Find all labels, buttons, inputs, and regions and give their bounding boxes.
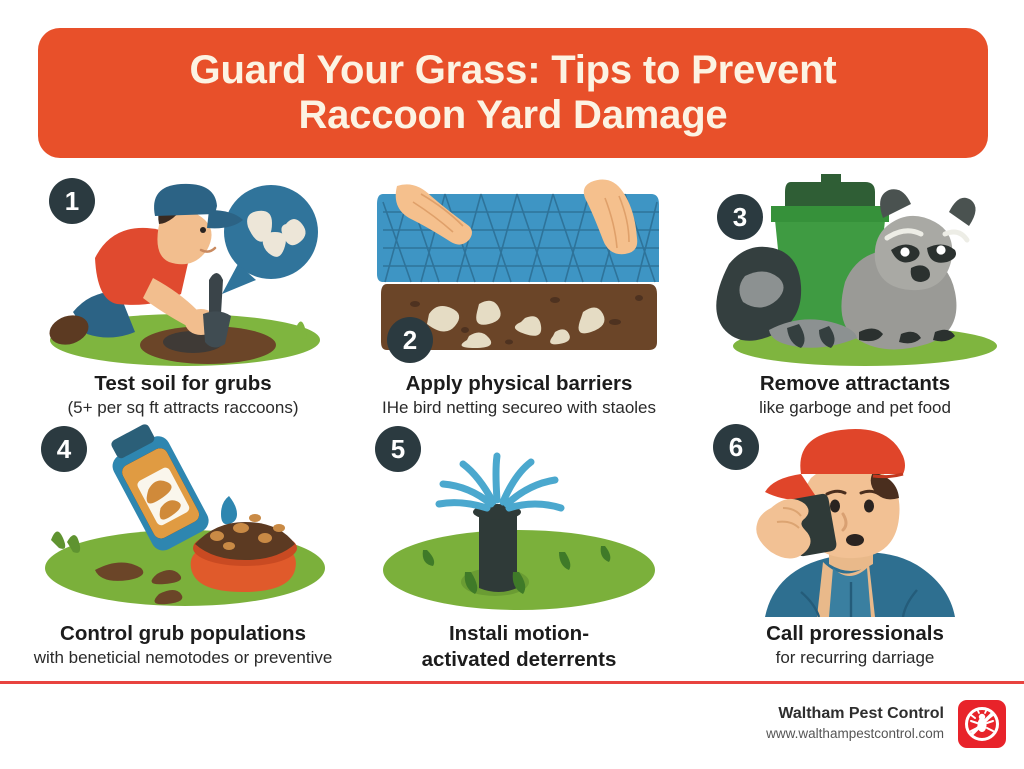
step-caption-6: Call proressionals for recurring darriag… [690,621,1020,668]
brand-name: Waltham Pest Control [766,704,944,725]
step-badge-2: 2 [387,317,433,363]
step-title-1: Test soil for grubs [18,371,348,396]
step-badge-4: 4 [41,426,87,472]
step-caption-1: Test soil for grubs (5+ per sq ft attrac… [18,371,348,418]
step-title-4: Control grub populations [18,621,348,646]
title-line-2: Raccoon Yard Damage [190,93,837,138]
step-card-2: 2 Apply physical barriers IHe bird netti… [354,172,684,418]
infographic-page: Guard Your Grass: Tips to Prevent Raccoo… [0,0,1024,769]
step-badge-5: 5 [375,426,421,472]
footer-text: Waltham Pest Control www.walthampestcont… [766,704,944,744]
step-subtitle-3: like garboge and pet food [690,397,1020,418]
step-title-5: Instali motion- [354,621,684,646]
no-pest-logo [958,700,1006,748]
man-phone-call-illustration: 6 [705,422,1005,617]
step-badge-1: 1 [49,178,95,224]
step-card-3: 3 Remove attractants like garboge and pe… [690,172,1020,418]
steps-grid: 1 Test soil for grubs (5+ per sq ft attr… [18,172,1006,672]
man-digging-soil-grubs-illustration: 1 [33,172,333,367]
step-card-1: 1 Test soil for grubs (5+ per sq ft attr… [18,172,348,418]
step-title-2: Apply physical barriers [354,371,684,396]
step-caption-5: Instali motion- activated deterrents [354,621,684,673]
footer: Waltham Pest Control www.walthampestcont… [766,700,1006,748]
step-card-5: 5 Instali motion- activated deterrents [354,422,684,673]
brand-website[interactable]: www.walthampestcontrol.com [766,725,944,744]
motion-sprinkler-illustration: 5 [369,422,669,617]
nematode-bottle-pet-bowl-illustration: 4 [33,422,333,617]
step-title-3: Remove attractants [690,371,1020,396]
step-subtitle-2: IHe bird netting secureo with staoles [354,397,684,418]
footer-divider [0,681,1024,684]
step-title-6: Call proressionals [690,621,1020,646]
raccoon-trash-bin-illustration: 3 [705,172,1005,367]
page-title: Guard Your Grass: Tips to Prevent Raccoo… [164,48,863,138]
title-line-1: Guard Your Grass: Tips to Prevent [190,48,837,93]
step-subtitle-1: (5+ per sq ft attracts raccoons) [18,397,348,418]
step-card-4: 4 Control grub populations with benetici… [18,422,348,673]
step-badge-3: 3 [717,194,763,240]
step-caption-3: Remove attractants like garboge and pet … [690,371,1020,418]
step-caption-2: Apply physical barriers IHe bird netting… [354,371,684,418]
step-card-6: 6 Call proressionals for recurring darri… [690,422,1020,673]
hands-laying-bird-netting-illustration: 2 [369,172,669,367]
step-subtitle-6: for recurring darriage [690,647,1020,668]
title-banner: Guard Your Grass: Tips to Prevent Raccoo… [38,28,988,158]
step-subtitle-5: activated deterrents [354,647,684,673]
step-subtitle-4: with beneticial nemotodes or preventive [18,647,348,668]
step-badge-6: 6 [713,424,759,470]
step-caption-4: Control grub populations with beneticial… [18,621,348,668]
